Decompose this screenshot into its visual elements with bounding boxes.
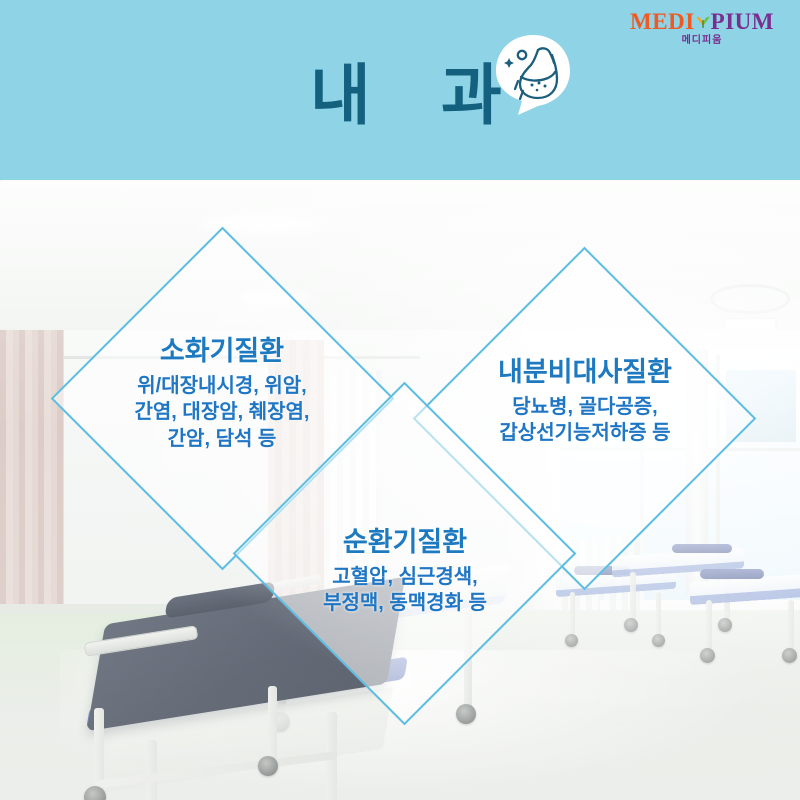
card-digestive: 소화기질환 위/대장내시경, 위암, 간염, 대장암, 췌장염, 간암, 담석 … [62, 334, 382, 452]
card-endocrine: 내분비대사질환 당뇨병, 골다공증, 갑상선기능저하증 등 [425, 355, 745, 447]
card-title-endocrine: 내분비대사질환 [425, 355, 745, 390]
brand-logo: MEDIPIUM 메디피움 [630, 10, 774, 46]
brand-word-pium: PIUM [711, 9, 774, 34]
butterfly-icon [695, 15, 711, 31]
card-circulatory: 순환기질환 고혈압, 심근경색, 부정맥, 동맥경화 등 [245, 525, 565, 617]
infographic-page: MEDIPIUM 메디피움 내 과 [0, 0, 800, 800]
card-body-endocrine: 당뇨병, 골다공증, 갑상선기능저하증 등 [425, 395, 745, 447]
brand-subtitle: 메디피움 [630, 36, 774, 46]
card-line: 간암, 담석 등 [62, 427, 382, 453]
header-band: MEDIPIUM 메디피움 내 과 [0, 0, 800, 180]
stomach-icon [492, 33, 574, 117]
card-line: 갑상선기능저하증 등 [425, 421, 745, 447]
ceiling-round-fixture [710, 284, 790, 314]
card-title-digestive: 소화기질환 [62, 334, 382, 369]
brand-word-medi: MEDI [630, 9, 695, 34]
card-line: 부정맥, 동맥경화 등 [245, 591, 565, 617]
card-line: 위/대장내시경, 위암, [62, 374, 382, 400]
card-line: 당뇨병, 골다공증, [425, 395, 745, 421]
brand-wordmark: MEDIPIUM [630, 10, 774, 33]
card-line: 간염, 대장암, 췌장염, [62, 400, 382, 426]
card-body-circulatory: 고혈압, 심근경색, 부정맥, 동맥경화 등 [245, 565, 565, 617]
card-body-digestive: 위/대장내시경, 위암, 간염, 대장암, 췌장염, 간암, 담석 등 [62, 374, 382, 453]
card-line: 고혈압, 심근경색, [245, 565, 565, 591]
card-title-circulatory: 순환기질환 [245, 525, 565, 560]
gurney [690, 578, 800, 658]
